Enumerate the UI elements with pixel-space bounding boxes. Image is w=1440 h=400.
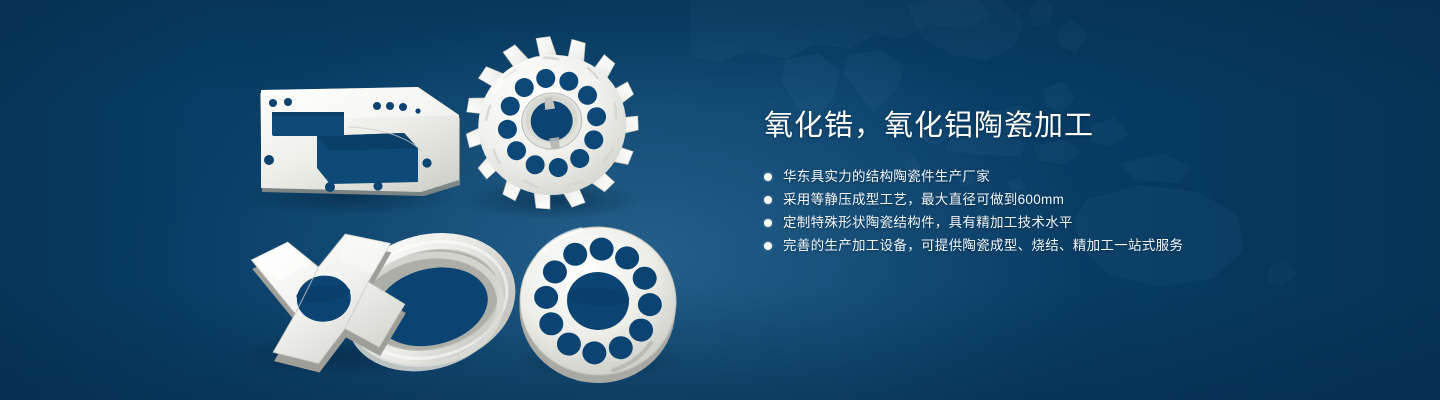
feature-text: 定制特殊形状陶瓷结构件，具有精加工技术水平 — [783, 211, 1073, 234]
ceramic-machined-plate — [260, 87, 460, 196]
hero-banner: 氧化锆，氧化铝陶瓷加工 华东具实力的结构陶瓷件生产厂家 采用等静压成型工艺，最大… — [0, 0, 1440, 400]
banner-copy: 氧化锆，氧化铝陶瓷加工 华东具实力的结构陶瓷件生产厂家 采用等静压成型工艺，最大… — [764, 106, 1364, 257]
banner-feature-list: 华东具实力的结构陶瓷件生产厂家 采用等静压成型工艺，最大直径可做到600mm 定… — [764, 165, 1364, 257]
banner-headline: 氧化锆，氧化铝陶瓷加工 — [764, 106, 1364, 146]
dot-bullet-icon — [764, 219, 772, 227]
feature-item: 定制特殊形状陶瓷结构件，具有精加工技术水平 — [764, 211, 1364, 234]
dot-bullet-icon — [764, 242, 772, 250]
dot-bullet-icon — [764, 173, 772, 181]
ceramic-products-image — [0, 0, 760, 400]
feature-item: 华东具实力的结构陶瓷件生产厂家 — [764, 165, 1364, 188]
feature-item: 完善的生产加工设备，可提供陶瓷成型、烧结、精加工一站式服务 — [764, 234, 1364, 257]
feature-text: 华东具实力的结构陶瓷件生产厂家 — [783, 165, 990, 188]
feature-text: 完善的生产加工设备，可提供陶瓷成型、烧结、精加工一站式服务 — [783, 234, 1183, 257]
feature-item: 采用等静压成型工艺，最大直径可做到600mm — [764, 188, 1364, 211]
feature-text: 采用等静压成型工艺，最大直径可做到600mm — [783, 188, 1064, 211]
dot-bullet-icon — [764, 196, 772, 204]
